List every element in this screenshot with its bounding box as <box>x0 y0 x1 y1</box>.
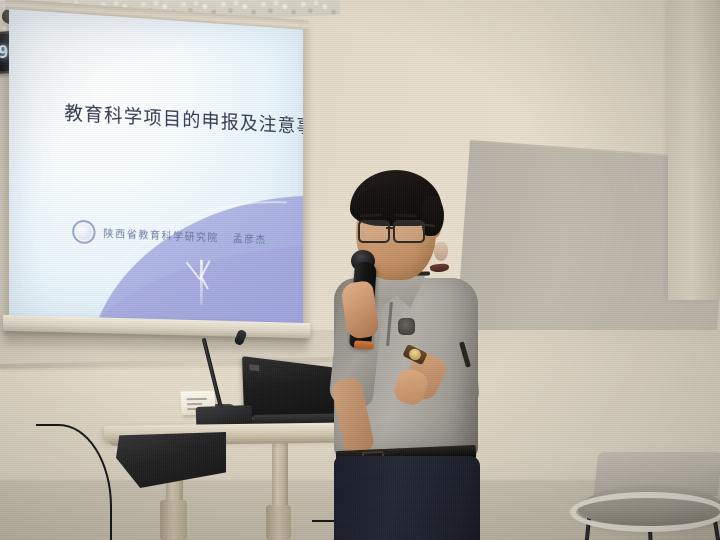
slide-surface: 教育科学项目的申报及注意事项 陕西省教育科学研究院 孟彦杰 <box>9 9 303 325</box>
chair-seat-rim <box>570 492 720 532</box>
presenter-nose <box>434 242 448 261</box>
shirt-emblem-icon <box>398 318 415 335</box>
presenter-mouth <box>430 263 450 272</box>
presenter <box>300 170 520 540</box>
name-card-text-line <box>187 403 202 405</box>
photograph-scene: 1901 教育科学项目的申报及注意事项 陕西省教育科学研究院 孟彦杰 <box>0 0 720 540</box>
laptop-logo-icon <box>249 364 259 371</box>
name-card-text-line <box>187 398 207 400</box>
glasses-bridge <box>386 227 395 229</box>
slide-author: 孟彦杰 <box>233 230 267 246</box>
presenter-trousers <box>334 456 480 540</box>
slide-organization: 陕西省教育科学研究院 <box>103 225 218 244</box>
table-leg-foot <box>266 505 291 540</box>
wind-turbine-icon <box>200 260 203 305</box>
wall-pillar-right <box>668 0 720 300</box>
institute-seal-icon <box>72 220 95 245</box>
presenter-hair-side <box>422 196 444 236</box>
glasses-lens-left-icon <box>358 220 390 243</box>
microphone-grip-ring <box>354 340 375 349</box>
slide-title: 教育科学项目的申报及注意事项 <box>64 98 292 137</box>
table-leg-foot <box>160 500 187 540</box>
projection-screen: 教育科学项目的申报及注意事项 陕西省教育科学研究院 孟彦杰 <box>9 9 303 346</box>
slide-wave-highlight <box>88 193 287 325</box>
